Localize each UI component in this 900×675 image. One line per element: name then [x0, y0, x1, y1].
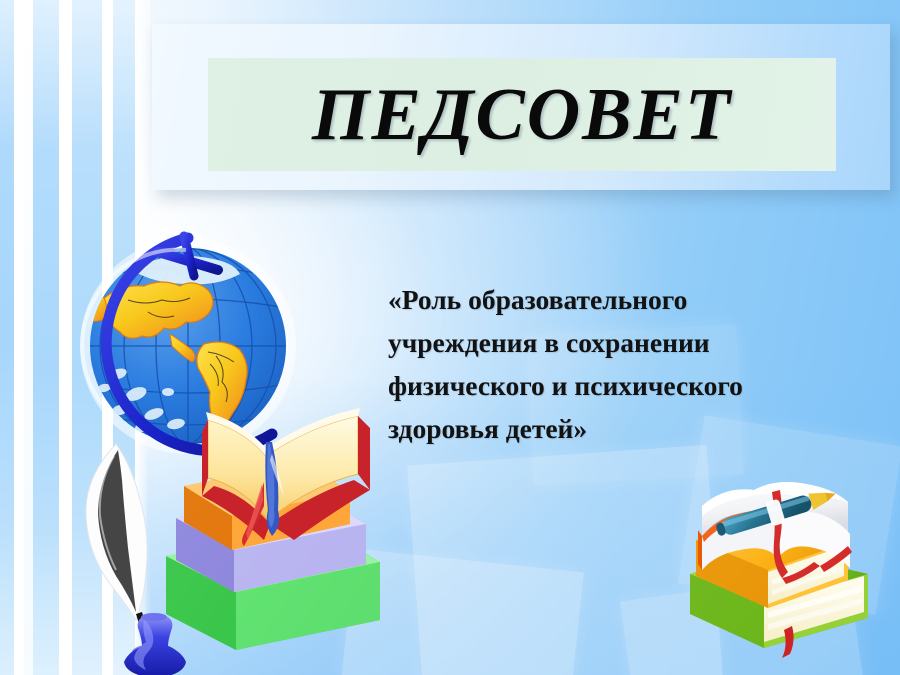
title-inner-box: ПЕДСОВЕТ	[208, 58, 836, 171]
presentation-slide: ПЕДСОВЕТ «Роль образовательного учрежден…	[0, 0, 900, 675]
title-panel: ПЕДСОВЕТ	[152, 24, 890, 190]
slide-subtitle-text: «Роль образовательного учреждения в сохр…	[388, 278, 824, 450]
book-stack-with-pen-illustration	[672, 462, 894, 667]
globe-illustration	[58, 228, 388, 658]
page-title: ПЕДСОВЕТ	[312, 78, 732, 152]
